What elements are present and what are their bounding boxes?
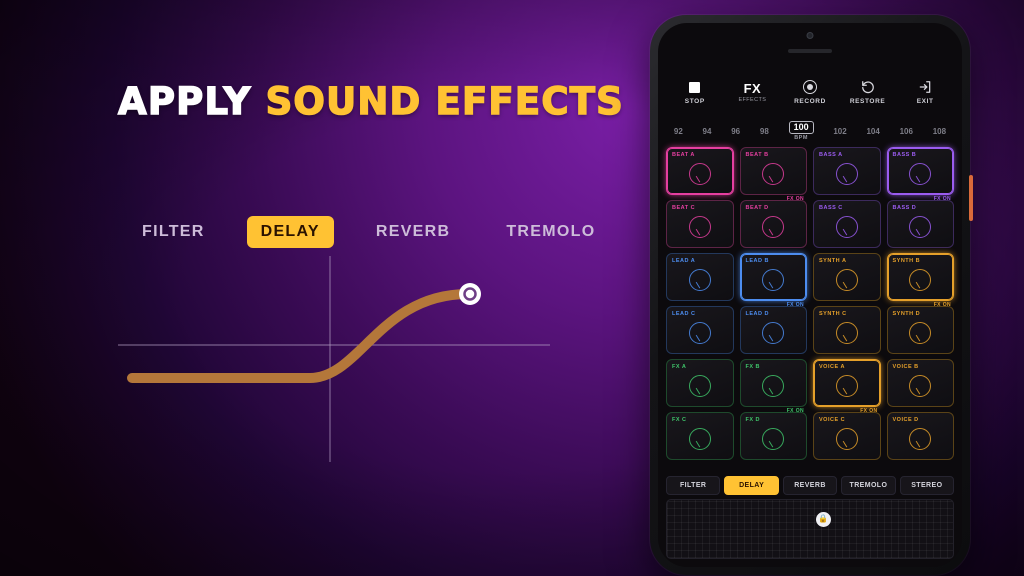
phone-screen: STOP FX EFFECTS RECORD	[658, 23, 962, 567]
restore-arrow-icon	[861, 80, 875, 95]
record-button[interactable]: RECORD	[781, 80, 839, 105]
pad-knob-icon[interactable]	[762, 322, 784, 344]
pad-fx-c[interactable]: FX C	[666, 412, 734, 460]
pad-knob-icon[interactable]	[836, 375, 858, 397]
pad-label: BASS B	[893, 152, 949, 158]
effect-tab-tremolo[interactable]: TREMOLO	[492, 216, 609, 248]
xy-control-pad[interactable]: 🔒	[666, 499, 954, 559]
pad-fx-d[interactable]: FX D	[740, 412, 808, 460]
effect-tab-reverb[interactable]: REVERB	[362, 216, 464, 248]
bpm-selector[interactable]: 92 94 96 98 100 BPM 102 104 106 108	[658, 115, 962, 147]
phone-tab-filter[interactable]: FILTER	[666, 476, 720, 495]
pad-bass-d[interactable]: BASS D	[887, 200, 955, 248]
pad-beat-c[interactable]: BEAT C	[666, 200, 734, 248]
pad-voice-d[interactable]: VOICE D	[887, 412, 955, 460]
pad-synth-d[interactable]: SYNTH D	[887, 306, 955, 354]
effect-tab-filter[interactable]: FILTER	[128, 216, 219, 248]
pad-beat-d[interactable]: BEAT D	[740, 200, 808, 248]
bpm-option[interactable]: 102	[833, 127, 846, 136]
pad-synth-b[interactable]: SYNTH BFX ON	[887, 253, 955, 301]
pad-label: LEAD C	[672, 311, 728, 317]
bpm-option[interactable]: 94	[703, 127, 712, 136]
pad-knob-icon[interactable]	[836, 216, 858, 238]
bpm-current-value: 100	[789, 121, 814, 135]
pad-beat-b[interactable]: BEAT BFX ON	[740, 147, 808, 195]
pad-knob-icon[interactable]	[762, 375, 784, 397]
pad-label: LEAD A	[672, 258, 728, 264]
pad-voice-c[interactable]: VOICE C	[813, 412, 881, 460]
bpm-option[interactable]: 98	[760, 127, 769, 136]
pad-knob-icon[interactable]	[836, 322, 858, 344]
page-title: APPLY SOUND EFFECTS	[118, 80, 624, 123]
curve-path	[132, 294, 468, 378]
lock-icon: 🔒	[818, 515, 828, 523]
pad-voice-b[interactable]: VOICE B	[887, 359, 955, 407]
pad-label: VOICE A	[819, 364, 875, 370]
pad-knob-icon[interactable]	[909, 428, 931, 450]
pad-knob-icon[interactable]	[836, 428, 858, 450]
effect-tab-delay[interactable]: DELAY	[247, 216, 334, 248]
pad-knob-icon[interactable]	[909, 322, 931, 344]
pad-knob-icon[interactable]	[836, 163, 858, 185]
pad-label: BEAT A	[672, 152, 728, 158]
curve-handle[interactable]	[459, 283, 481, 305]
phone-tab-reverb[interactable]: REVERB	[783, 476, 837, 495]
pad-knob-icon[interactable]	[689, 375, 711, 397]
pad-knob-icon[interactable]	[909, 269, 931, 291]
pad-label: BASS A	[819, 152, 875, 158]
pad-synth-c[interactable]: SYNTH C	[813, 306, 881, 354]
fx-text-icon: FX	[744, 81, 762, 96]
bpm-label: BPM	[794, 135, 808, 141]
stop-button[interactable]: STOP	[666, 80, 724, 105]
front-camera-icon	[807, 32, 814, 39]
power-button[interactable]	[969, 175, 973, 221]
pad-knob-icon[interactable]	[689, 428, 711, 450]
fx-effects-button[interactable]: FX EFFECTS	[724, 81, 782, 103]
pad-knob-icon[interactable]	[909, 375, 931, 397]
stop-square-icon	[689, 80, 700, 95]
pad-knob-icon[interactable]	[689, 216, 711, 238]
phone-effect-tab-bar: FILTER DELAY REVERB TREMOLO STEREO	[666, 476, 954, 495]
pad-bass-c[interactable]: BASS C	[813, 200, 881, 248]
stop-button-label: STOP	[685, 98, 705, 105]
pad-label: BASS D	[893, 205, 949, 211]
restore-button-label: RESTORE	[850, 98, 886, 105]
page-title-white: APPLY	[118, 80, 251, 123]
pad-bass-b[interactable]: BASS BFX ON	[887, 147, 955, 195]
pad-label: FX C	[672, 417, 728, 423]
fx-sublabel: EFFECTS	[738, 97, 766, 103]
pad-label: BASS C	[819, 205, 875, 211]
pad-knob-icon[interactable]	[762, 428, 784, 450]
pad-label: SYNTH B	[893, 258, 949, 264]
page-title-yellow: SOUND EFFECTS	[266, 80, 624, 123]
fx-label: FX	[744, 82, 762, 95]
app-toolbar: STOP FX EFFECTS RECORD	[658, 71, 962, 113]
pad-lead-d[interactable]: LEAD D	[740, 306, 808, 354]
pad-beat-a[interactable]: BEAT A	[666, 147, 734, 195]
exit-button-label: EXIT	[917, 98, 934, 105]
pad-label: SYNTH C	[819, 311, 875, 317]
pad-label: LEAD D	[746, 311, 802, 317]
bpm-option[interactable]: 104	[866, 127, 879, 136]
pad-fx-b[interactable]: FX BFX ON	[740, 359, 808, 407]
bpm-current[interactable]: 100 BPM	[789, 121, 814, 142]
pad-label: VOICE D	[893, 417, 949, 423]
bpm-option[interactable]: 108	[933, 127, 946, 136]
pad-label: FX D	[746, 417, 802, 423]
pad-label: VOICE B	[893, 364, 949, 370]
phone-tab-tremolo[interactable]: TREMOLO	[841, 476, 895, 495]
pad-knob-icon[interactable]	[762, 269, 784, 291]
pad-label: VOICE C	[819, 417, 875, 423]
delay-curve-graph[interactable]	[110, 250, 560, 465]
pad-fx-a[interactable]: FX A	[666, 359, 734, 407]
pad-label: BEAT B	[746, 152, 802, 158]
pad-label: FX A	[672, 364, 728, 370]
pad-label: FX B	[746, 364, 802, 370]
pad-label: LEAD B	[746, 258, 802, 264]
exit-button[interactable]: EXIT	[896, 80, 954, 105]
pad-label: SYNTH D	[893, 311, 949, 317]
exit-arrow-icon	[918, 80, 932, 95]
record-button-label: RECORD	[794, 98, 826, 105]
effect-tab-bar: FILTER DELAY REVERB TREMOLO	[128, 216, 609, 248]
pad-knob-icon[interactable]	[689, 322, 711, 344]
phone-tab-stereo[interactable]: STEREO	[900, 476, 954, 495]
pad-knob-icon[interactable]	[909, 163, 931, 185]
pad-knob-icon[interactable]	[909, 216, 931, 238]
pad-knob-icon[interactable]	[836, 269, 858, 291]
pad-label: BEAT D	[746, 205, 802, 211]
pad-knob-icon[interactable]	[689, 163, 711, 185]
pad-label: BEAT C	[672, 205, 728, 211]
pad-knob-icon[interactable]	[762, 163, 784, 185]
pad-knob-icon[interactable]	[689, 269, 711, 291]
record-circle-icon	[803, 80, 817, 95]
pad-label: SYNTH A	[819, 258, 875, 264]
restore-button[interactable]: RESTORE	[839, 80, 897, 105]
pad-lead-a[interactable]: LEAD A	[666, 253, 734, 301]
bpm-option[interactable]: 92	[674, 127, 683, 136]
xy-pad-handle[interactable]: 🔒	[816, 512, 831, 527]
pad-knob-icon[interactable]	[762, 216, 784, 238]
bpm-option[interactable]: 106	[900, 127, 913, 136]
pad-voice-a[interactable]: VOICE AFX ON	[813, 359, 881, 407]
pad-synth-a[interactable]: SYNTH A	[813, 253, 881, 301]
pad-bass-a[interactable]: BASS A	[813, 147, 881, 195]
pad-lead-c[interactable]: LEAD C	[666, 306, 734, 354]
phone-tab-delay[interactable]: DELAY	[724, 476, 778, 495]
pad-grid: BEAT ABEAT BFX ONBASS ABASS BFX ONBEAT C…	[666, 147, 954, 460]
bpm-option[interactable]: 96	[731, 127, 740, 136]
earpiece-speaker	[788, 49, 832, 53]
pad-lead-b[interactable]: LEAD BFX ON	[740, 253, 808, 301]
phone-mockup: STOP FX EFFECTS RECORD	[650, 15, 970, 575]
